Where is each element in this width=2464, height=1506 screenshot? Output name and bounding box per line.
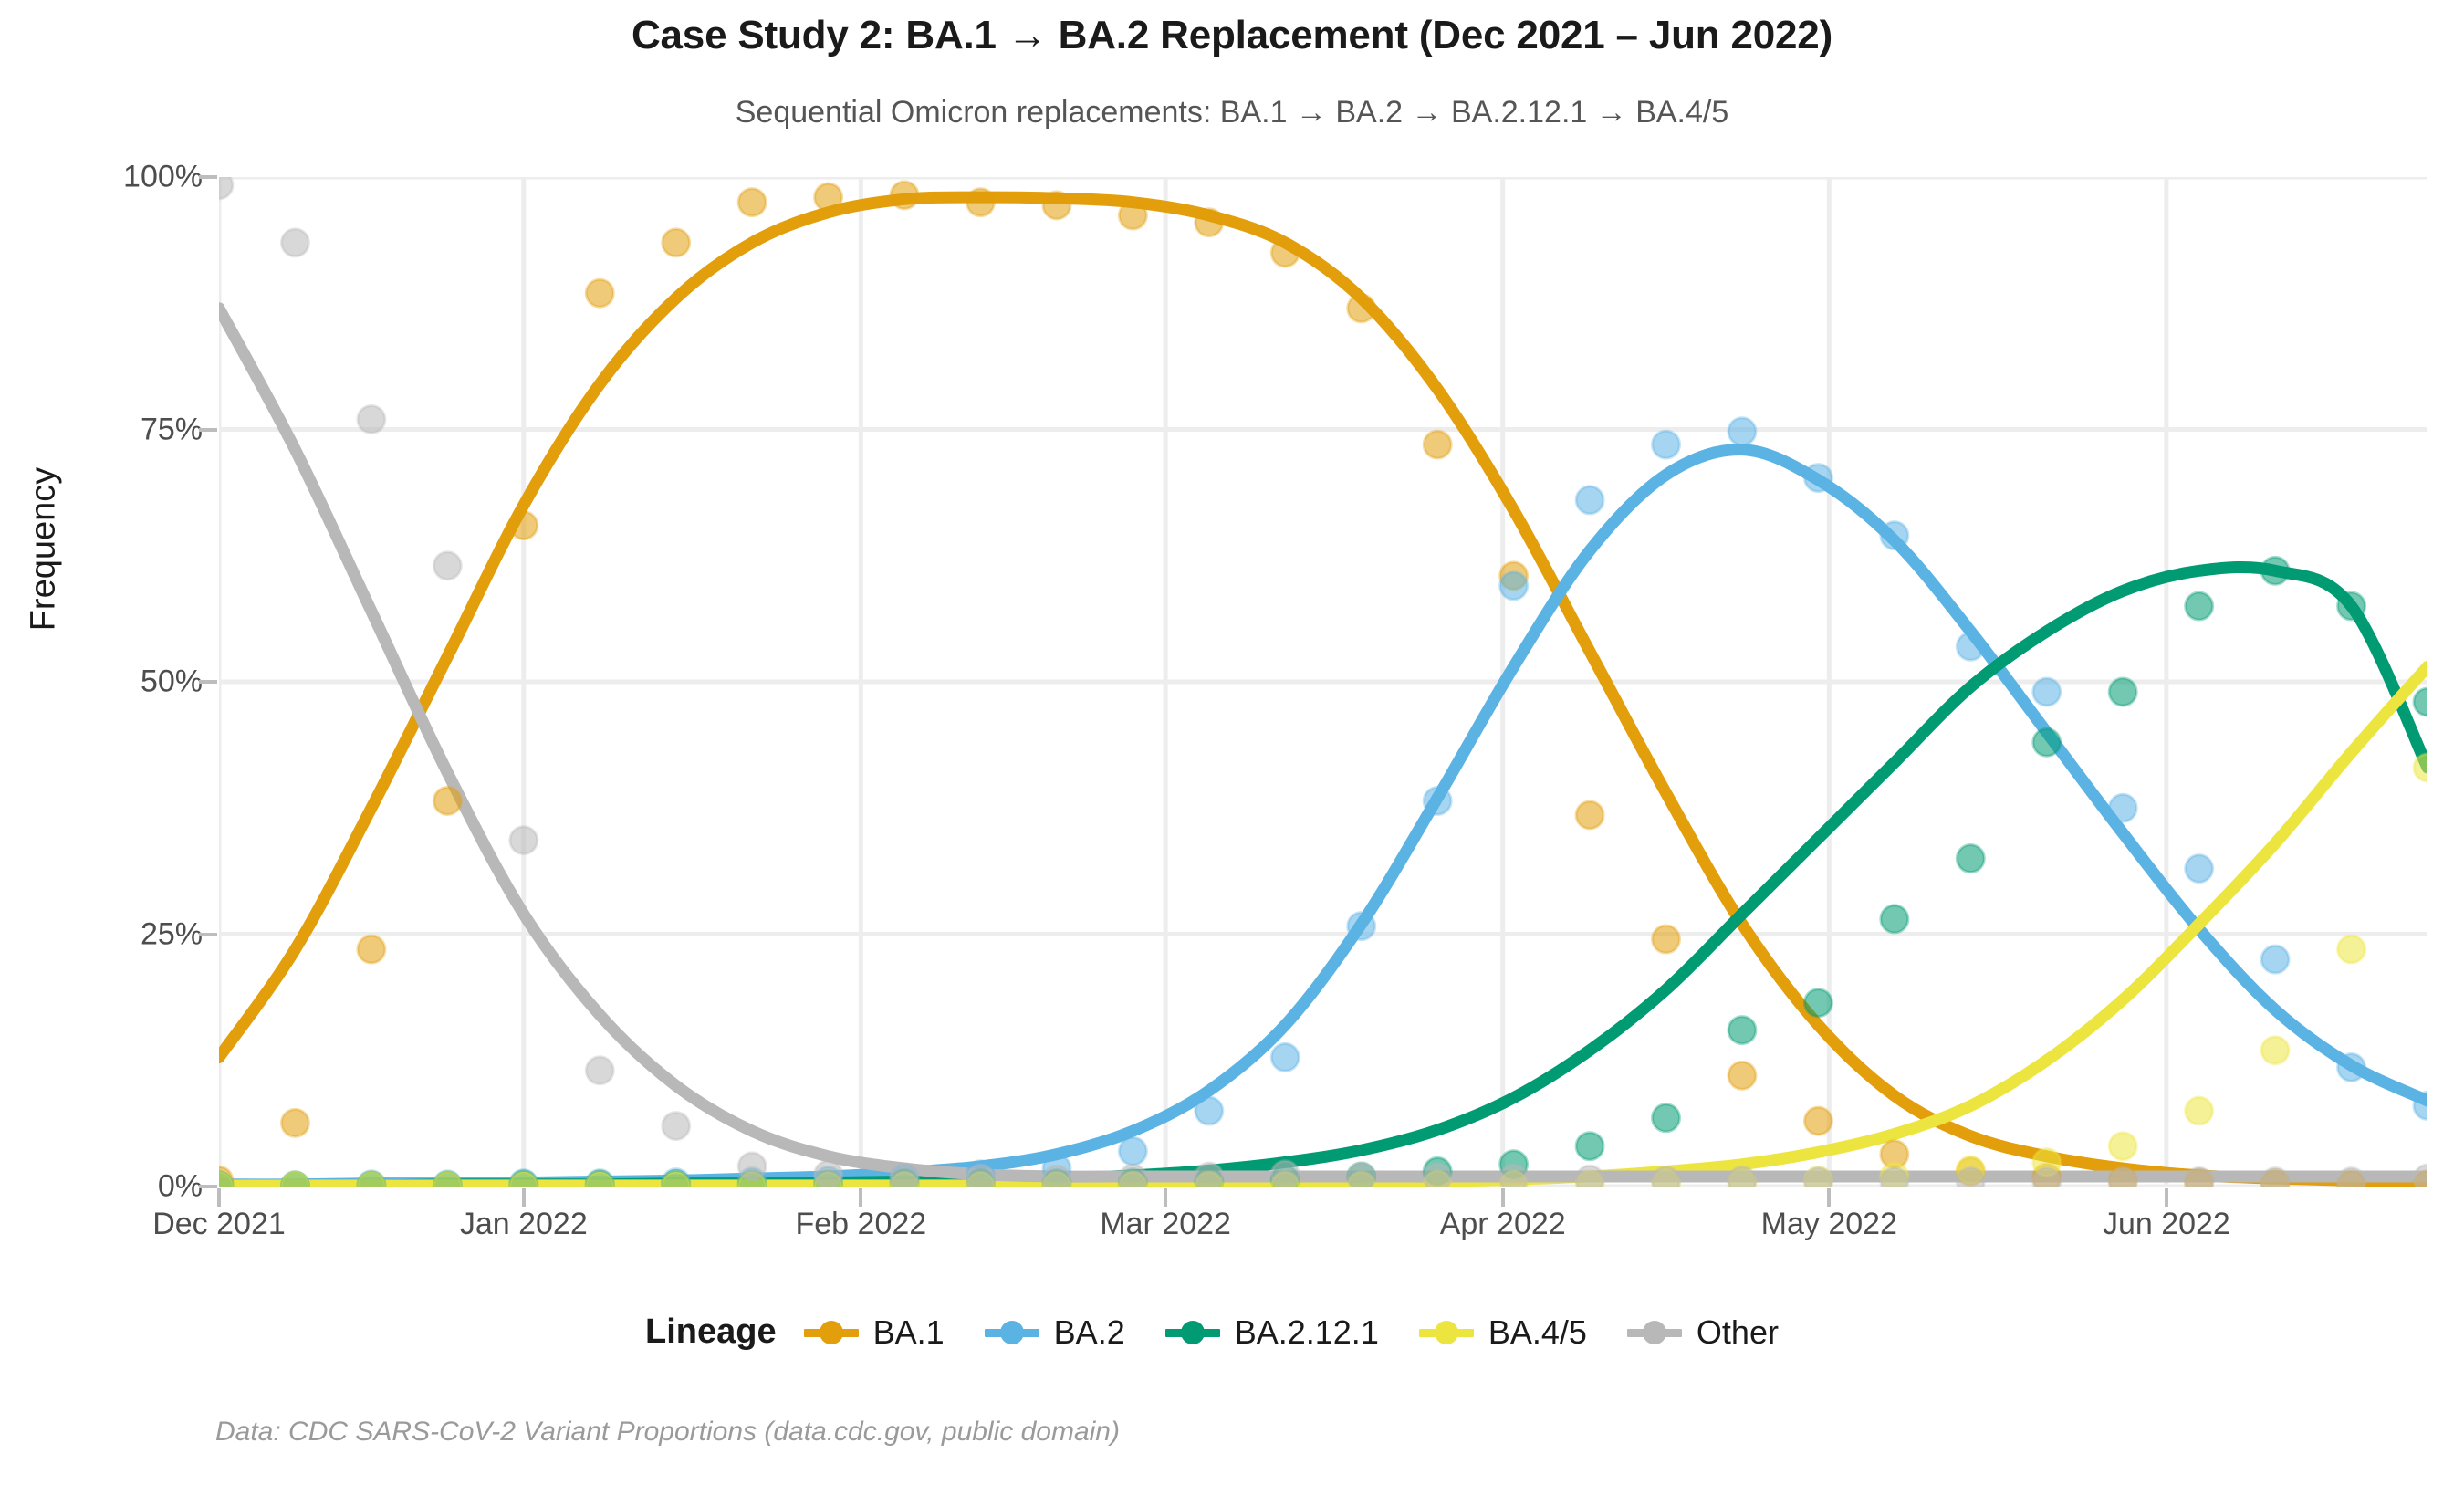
data-point[interactable] xyxy=(1728,1017,1756,1044)
data-point[interactable] xyxy=(2261,1167,2289,1187)
data-point[interactable] xyxy=(1271,239,1299,267)
data-point[interactable] xyxy=(1881,1167,1908,1187)
data-point[interactable] xyxy=(2261,946,2289,973)
legend-item-ba-2-12-1[interactable]: BA.2.12.1 xyxy=(1165,1313,1379,1352)
y-tickmark xyxy=(199,175,217,179)
plot-area[interactable] xyxy=(219,177,2427,1187)
chart-legend: Lineage BA.1BA.2BA.2.12.1BA.4/5Other xyxy=(0,1313,2464,1352)
data-point[interactable] xyxy=(663,1172,690,1187)
data-point[interactable] xyxy=(1653,1166,1680,1187)
series-line-ba-2-12-1 xyxy=(219,567,2427,1186)
y-tickmark xyxy=(199,680,217,684)
x-tickmark xyxy=(1164,1188,1167,1207)
series-line-ba-4-5 xyxy=(219,666,2427,1186)
data-point[interactable] xyxy=(2414,688,2427,716)
data-point[interactable] xyxy=(815,1161,842,1187)
data-point[interactable] xyxy=(2109,678,2136,706)
data-point[interactable] xyxy=(1500,1165,1528,1187)
legend-item-ba-4-5[interactable]: BA.4/5 xyxy=(1419,1313,1587,1352)
series-line-ba-1 xyxy=(219,197,2427,1181)
data-point[interactable] xyxy=(1957,1167,1984,1187)
legend-key-icon xyxy=(1165,1322,1220,1344)
legend-item-ba-1[interactable]: BA.1 xyxy=(804,1313,945,1352)
data-point[interactable] xyxy=(966,189,994,216)
data-point[interactable] xyxy=(1195,209,1223,236)
data-point[interactable] xyxy=(2109,1167,2136,1187)
y-tickmark xyxy=(199,1185,217,1188)
x-tickmark xyxy=(2165,1188,2168,1207)
y-tickmark xyxy=(199,933,217,936)
legend-item-ba-2[interactable]: BA.2 xyxy=(985,1313,1125,1352)
data-point[interactable] xyxy=(281,1109,308,1136)
legend-title: Lineage xyxy=(645,1313,777,1352)
data-point[interactable] xyxy=(891,182,918,209)
data-point[interactable] xyxy=(738,1153,766,1180)
data-point[interactable] xyxy=(1653,1104,1680,1132)
data-point[interactable] xyxy=(510,827,538,854)
data-point[interactable] xyxy=(1348,913,1375,940)
chart-subtitle: Sequential Omicron replacements: BA.1 → … xyxy=(0,95,2464,131)
data-point[interactable] xyxy=(586,1172,613,1187)
x-tick-label: Dec 2021 xyxy=(82,1207,356,1242)
data-point[interactable] xyxy=(2186,1167,2213,1187)
data-point[interactable] xyxy=(1348,295,1375,322)
data-point[interactable] xyxy=(2033,1167,2061,1187)
data-point[interactable] xyxy=(1119,1165,1146,1187)
x-tick-label: May 2022 xyxy=(1692,1207,1966,1242)
data-point[interactable] xyxy=(1881,905,1908,933)
legend-key-icon xyxy=(1627,1322,1682,1344)
data-point[interactable] xyxy=(1576,1133,1603,1160)
y-tick-label: 50% xyxy=(20,664,203,700)
legend-item-label: Other xyxy=(1697,1313,1779,1352)
x-tick-label: Jan 2022 xyxy=(387,1207,661,1242)
data-point[interactable] xyxy=(358,1172,385,1187)
data-point[interactable] xyxy=(1271,1043,1299,1071)
y-tick-label: 0% xyxy=(20,1169,203,1205)
data-point[interactable] xyxy=(2186,592,2213,620)
x-tick-label: Apr 2022 xyxy=(1366,1207,1640,1242)
series-line-ba-2 xyxy=(219,450,2427,1185)
y-tickmark xyxy=(199,428,217,432)
data-point[interactable] xyxy=(1804,989,1832,1017)
y-tick-label: 25% xyxy=(20,916,203,952)
data-point[interactable] xyxy=(1043,1166,1070,1187)
x-tickmark xyxy=(522,1188,526,1207)
legend-point-swatch xyxy=(1000,1321,1024,1344)
data-point[interactable] xyxy=(2338,1167,2365,1187)
data-point[interactable] xyxy=(1653,926,1680,953)
data-point[interactable] xyxy=(2261,1037,2289,1064)
x-tickmark xyxy=(217,1188,221,1207)
data-point[interactable] xyxy=(1728,1166,1756,1187)
data-point[interactable] xyxy=(2109,1133,2136,1160)
chart-caption: Data: CDC SARS-CoV-2 Variant Proportions… xyxy=(215,1417,1120,1448)
data-point[interactable] xyxy=(219,177,233,199)
x-tickmark xyxy=(1501,1188,1505,1207)
legend-item-label: BA.1 xyxy=(873,1313,945,1352)
x-tick-label: Feb 2022 xyxy=(724,1207,997,1242)
data-point[interactable] xyxy=(281,229,308,256)
legend-point-swatch xyxy=(1643,1321,1666,1344)
legend-point-swatch xyxy=(1435,1321,1458,1344)
data-point[interactable] xyxy=(1576,801,1603,829)
legend-item-other[interactable]: Other xyxy=(1627,1313,1779,1352)
legend-point-swatch xyxy=(1181,1321,1205,1344)
data-point[interactable] xyxy=(1195,1097,1223,1124)
data-point[interactable] xyxy=(1728,418,1756,445)
data-point[interactable] xyxy=(2033,678,2061,706)
legend-item-label: BA.4/5 xyxy=(1488,1313,1587,1352)
data-point[interactable] xyxy=(663,229,690,256)
data-point[interactable] xyxy=(1881,522,1908,549)
data-point[interactable] xyxy=(2414,754,2427,781)
data-point[interactable] xyxy=(1119,1137,1146,1165)
data-point[interactable] xyxy=(1500,572,1528,600)
legend-item-label: BA.2 xyxy=(1054,1313,1125,1352)
data-point[interactable] xyxy=(358,405,385,433)
data-point[interactable] xyxy=(2186,1097,2213,1124)
data-point[interactable] xyxy=(1119,202,1146,229)
data-point[interactable] xyxy=(586,279,613,307)
data-point[interactable] xyxy=(2338,1053,2365,1081)
data-point[interactable] xyxy=(738,189,766,216)
data-point[interactable] xyxy=(1271,1161,1299,1187)
data-point[interactable] xyxy=(966,1165,994,1187)
data-point[interactable] xyxy=(2414,1165,2427,1187)
chart-title: Case Study 2: BA.1 → BA.2 Replacement (D… xyxy=(0,13,2464,58)
data-point[interactable] xyxy=(663,1113,690,1140)
data-point[interactable] xyxy=(815,183,842,211)
data-point[interactable] xyxy=(1653,431,1680,458)
data-point[interactable] xyxy=(2186,855,2213,883)
data-point[interactable] xyxy=(2338,936,2365,963)
plot-svg xyxy=(219,177,2427,1187)
data-point[interactable] xyxy=(1576,1166,1603,1187)
y-tick-label: 100% xyxy=(20,160,203,195)
data-point[interactable] xyxy=(1804,1167,1832,1187)
series-line-other xyxy=(219,309,2427,1177)
legend-item-label: BA.2.12.1 xyxy=(1235,1313,1379,1352)
y-tick-label: 75% xyxy=(20,412,203,447)
data-point[interactable] xyxy=(1576,486,1603,514)
legend-key-icon xyxy=(1419,1322,1474,1344)
data-point[interactable] xyxy=(1804,1107,1832,1135)
x-tick-label: Jun 2022 xyxy=(2030,1207,2303,1242)
data-point[interactable] xyxy=(1424,1164,1451,1187)
data-point[interactable] xyxy=(891,1164,918,1187)
data-point[interactable] xyxy=(1424,788,1451,815)
data-point[interactable] xyxy=(586,1057,613,1084)
gridlines xyxy=(219,177,2427,1187)
data-point[interactable] xyxy=(1728,1062,1756,1089)
data-point[interactable] xyxy=(510,512,538,539)
data-point[interactable] xyxy=(1424,431,1451,458)
data-point[interactable] xyxy=(433,1172,461,1187)
legend-point-swatch xyxy=(820,1321,843,1344)
series-lines xyxy=(219,197,2427,1186)
x-tickmark xyxy=(859,1188,862,1207)
x-tickmark xyxy=(1827,1188,1831,1207)
data-point[interactable] xyxy=(2109,794,2136,821)
legend-key-icon xyxy=(804,1322,859,1344)
data-point[interactable] xyxy=(433,788,461,815)
data-point[interactable] xyxy=(1957,845,1984,873)
chart-page: Case Study 2: BA.1 → BA.2 Replacement (D… xyxy=(0,0,2464,1506)
data-point[interactable] xyxy=(358,936,385,963)
data-point[interactable] xyxy=(2338,592,2365,620)
data-point[interactable] xyxy=(1957,633,1984,660)
legend-key-icon xyxy=(985,1322,1039,1344)
data-point[interactable] xyxy=(1804,465,1832,492)
data-point[interactable] xyxy=(1043,192,1070,219)
data-point[interactable] xyxy=(510,1172,538,1187)
data-point[interactable] xyxy=(2261,557,2289,584)
data-point[interactable] xyxy=(433,552,461,580)
data-point[interactable] xyxy=(2033,728,2061,756)
data-point[interactable] xyxy=(1195,1163,1223,1187)
legend-items: BA.1BA.2BA.2.12.1BA.4/5Other xyxy=(804,1313,1819,1352)
data-point[interactable] xyxy=(1348,1163,1375,1187)
x-tick-label: Mar 2022 xyxy=(1028,1207,1302,1242)
data-point[interactable] xyxy=(281,1172,308,1187)
